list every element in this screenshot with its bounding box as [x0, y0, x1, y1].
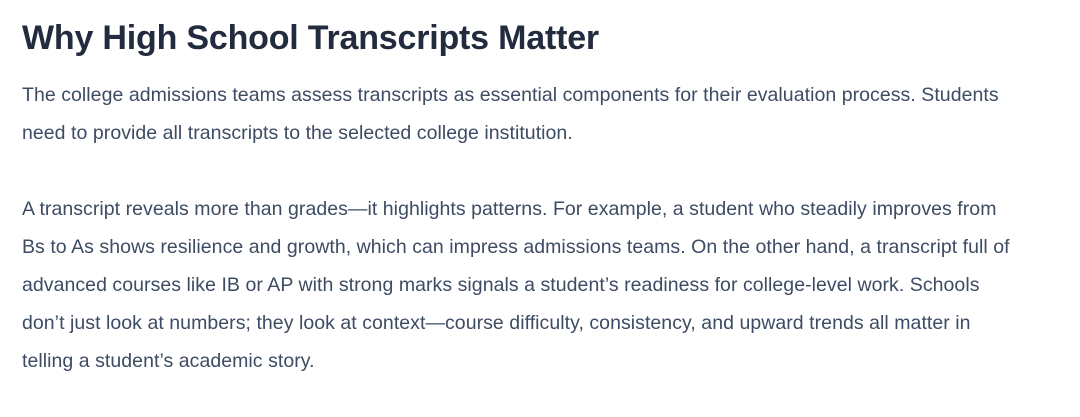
article-paragraph: A transcript reveals more than grades—it… — [22, 190, 1012, 380]
page-title: Why High School Transcripts Matter — [22, 0, 1032, 60]
article-body: The college admissions teams assess tran… — [22, 60, 1012, 380]
article-container: Why High School Transcripts Matter The c… — [0, 0, 1080, 417]
article-paragraph: The college admissions teams assess tran… — [22, 76, 1012, 152]
